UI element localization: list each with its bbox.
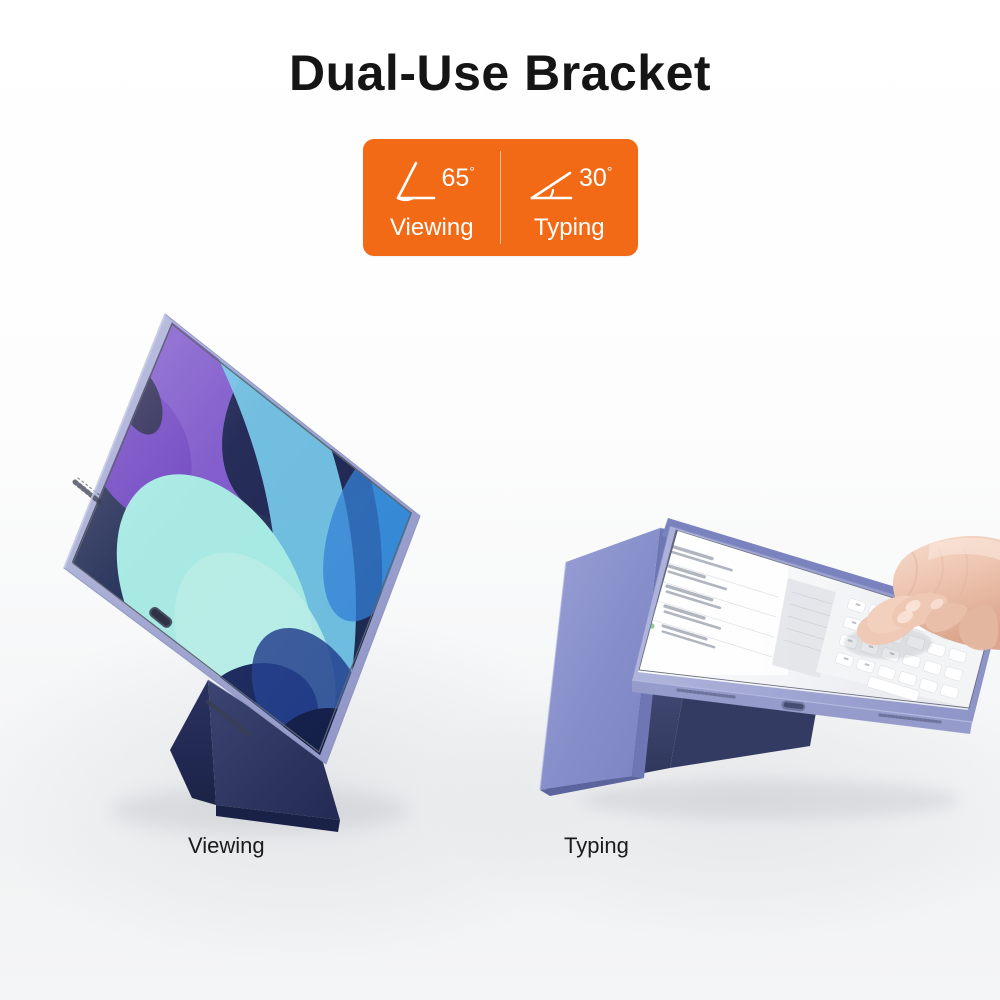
scene-viewing [20, 300, 440, 830]
page-title: Dual-Use Bracket [0, 46, 1000, 101]
badge-panel-typing: 30° Typing [501, 139, 639, 256]
angle-65-row: 65° [389, 154, 475, 210]
angle-65-icon [389, 157, 439, 207]
badge-label-typing: Typing [534, 216, 605, 240]
typing-ground-shadow [580, 780, 960, 820]
caption-typing: Typing [564, 833, 629, 859]
product-image-canvas: Dual-Use Bracket 65° Viewing [0, 0, 1000, 1000]
angle-30-row: 30° [526, 154, 612, 210]
scene-typing [520, 500, 1000, 830]
angle-30-value: 30° [579, 166, 612, 191]
caption-viewing: Viewing [188, 833, 265, 859]
angle-65-value: 65° [442, 166, 475, 191]
angle-30-icon [526, 157, 576, 207]
badge-panel-viewing: 65° Viewing [363, 139, 501, 256]
badge-label-viewing: Viewing [390, 216, 474, 240]
angle-badge: 65° Viewing 30° Typing [363, 139, 638, 256]
